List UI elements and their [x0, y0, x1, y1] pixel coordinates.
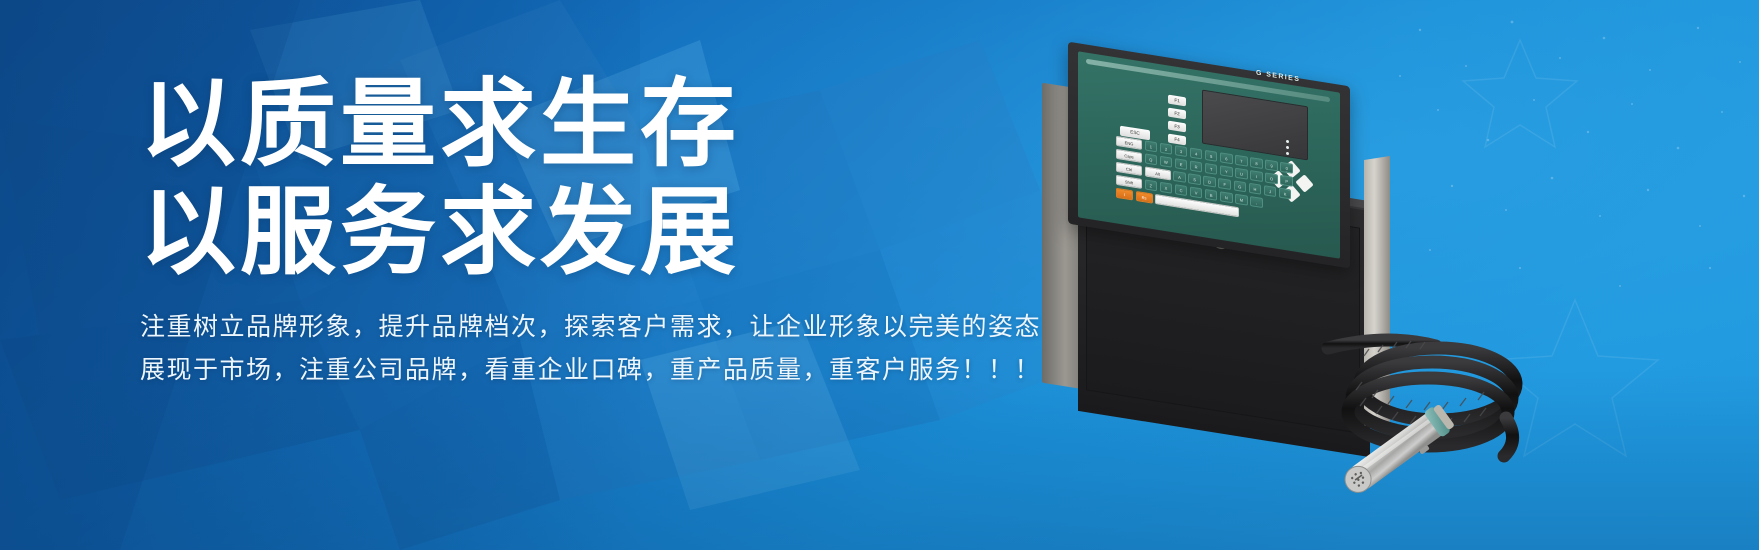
subcopy-line-2: 展现于市场，注重公司品牌，看重企业口碑，重产品质量，重客户服务！！！ [140, 349, 1040, 392]
key[interactable]: R [1190, 160, 1203, 172]
key-caps[interactable]: Caps [1116, 149, 1142, 163]
key[interactable]: O [1265, 172, 1278, 184]
headline-block: 以质量求生存 以服务求发展 [140, 78, 1040, 280]
key[interactable]: B [1205, 189, 1218, 201]
promo-banner: 以质量求生存 以服务求发展 注重树立品牌形象，提升品牌档次，探索客户需求，让企业… [0, 0, 1759, 550]
key[interactable]: M [1235, 194, 1248, 206]
key[interactable]: T [1205, 163, 1218, 175]
key[interactable]: 0 [1280, 162, 1293, 174]
print-head [1320, 392, 1480, 512]
key[interactable]: H [1249, 183, 1262, 195]
function-key-f3[interactable]: F3 [1168, 121, 1186, 133]
key[interactable]: J [1264, 185, 1277, 197]
key[interactable]: 5 [1205, 150, 1218, 162]
key[interactable]: 7 [1235, 155, 1248, 167]
status-indicator-dots [1286, 140, 1289, 158]
indicator-dot [1286, 152, 1289, 155]
key[interactable]: S [1188, 173, 1201, 185]
key[interactable]: C [1175, 184, 1188, 196]
key[interactable]: 8 [1250, 157, 1263, 169]
function-key-column: F1 F2 F3 F4 [1168, 95, 1186, 150]
indicator-dot [1286, 140, 1289, 143]
function-key-f1[interactable]: F1 [1168, 95, 1186, 107]
key-ctrl[interactable]: Ctrl [1116, 162, 1142, 176]
key-shift[interactable]: Shift [1116, 175, 1142, 189]
headline-line-2: 以服务求发展 [140, 186, 1040, 280]
marketing-copy: 以质量求生存 以服务求发展 注重树立品牌形象，提升品牌档次，探索客户需求，让企业… [140, 78, 1040, 392]
key[interactable]: G [1234, 180, 1247, 192]
inkjet-printer-product-image: G SERIES F1 F2 F3 F4 ESC ENG 1 2 3 [1020, 36, 1759, 550]
key[interactable]: 3 [1175, 145, 1188, 157]
key[interactable]: F [1218, 178, 1231, 190]
key[interactable]: N [1220, 191, 1233, 203]
key[interactable]: K [1279, 188, 1292, 200]
key[interactable]: 9 [1265, 159, 1278, 171]
key[interactable]: P [1280, 175, 1293, 187]
indicator-dot [1286, 146, 1289, 149]
key[interactable]: W [1160, 156, 1173, 168]
subcopy-block: 注重树立品牌形象，提升品牌档次，探索客户需求，让企业形象以完美的姿态 展现于市场… [140, 306, 1040, 392]
key[interactable]: 1 [1145, 140, 1158, 152]
key[interactable]: E [1175, 158, 1188, 170]
key[interactable]: X [1160, 182, 1173, 194]
key[interactable]: D [1203, 176, 1216, 188]
key[interactable]: Z [1145, 179, 1158, 191]
key-alt[interactable]: Alt [1145, 166, 1171, 180]
key[interactable]: Y [1220, 165, 1233, 177]
key[interactable]: V [1190, 186, 1203, 198]
subcopy-line-1: 注重树立品牌形象，提升品牌档次，探索客户需求，让企业形象以完美的姿态 [140, 306, 1040, 349]
key[interactable]: 2 [1160, 143, 1173, 155]
headline-line-1: 以质量求生存 [140, 78, 1040, 172]
function-key-f2[interactable]: F2 [1168, 108, 1186, 120]
key[interactable]: A [1173, 171, 1186, 183]
key[interactable]: , [1250, 196, 1263, 208]
key[interactable]: 4 [1190, 147, 1203, 159]
key[interactable]: I [1250, 170, 1263, 182]
key-stop[interactable]: Rs [1136, 191, 1153, 204]
key[interactable]: Q [1145, 153, 1158, 165]
key[interactable]: U [1235, 168, 1248, 180]
key-print[interactable]: I [1116, 188, 1133, 201]
key[interactable]: 6 [1220, 152, 1233, 164]
